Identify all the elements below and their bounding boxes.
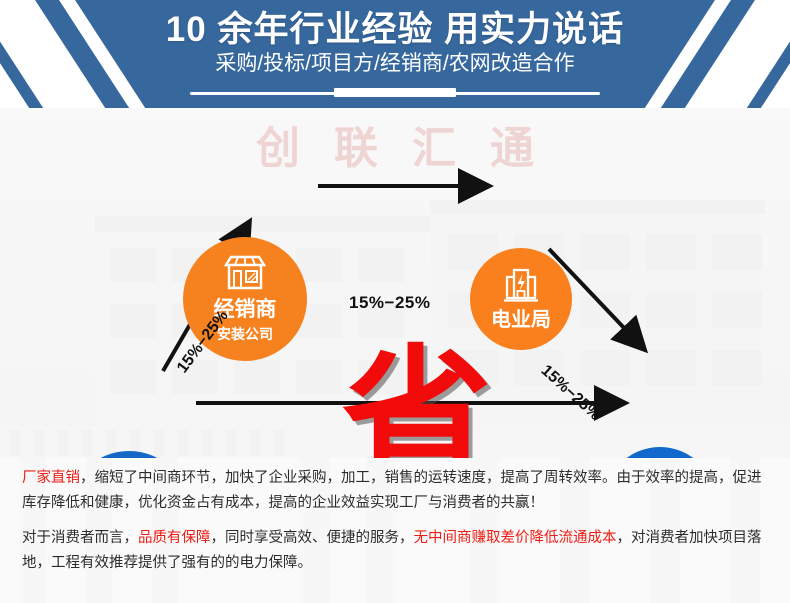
supply-chain-diagram: 创联汇通 省: [0, 108, 790, 458]
footer-paragraph-2: 对于消费者而言，品质有保障，同时享受高效、便捷的服务，无中间商赚取差价降低流通成…: [22, 526, 774, 576]
footer-p2-mid: ，同时享受高效、便捷的服务，: [211, 530, 414, 546]
page-title: 10 余年行业经验 用实力说话: [166, 9, 624, 50]
footer-p2-highlight-2: 无中间商赚取差价降低流通成本: [414, 530, 617, 546]
power-building-icon: [499, 267, 543, 308]
node-power-bureau[interactable]: 电业局: [470, 248, 572, 350]
center-character-sheng: 省: [332, 344, 502, 458]
footer-p1-rest: ，缩短了中间商环节，加快了企业采购，加工，销售的运转速度，提高了周转效率。由于效…: [22, 470, 762, 511]
node-power-bureau-label: 电业局: [491, 310, 551, 331]
footer-p1-highlight: 厂家直销: [22, 470, 80, 486]
edge-label-dealer-to-power: 15%−25%: [349, 293, 430, 313]
promo-infographic: 10 余年行业经验 用实力说话 采购/投标/项目方/经销商/农网改造合作: [0, 0, 790, 603]
header-banner: 10 余年行业经验 用实力说话 采购/投标/项目方/经销商/农网改造合作: [0, 0, 790, 108]
title-underline-center: [334, 88, 456, 97]
footer-p2-highlight-1: 品质有保障: [138, 530, 211, 546]
footer-p2-lead: 对于消费者而言，: [22, 530, 138, 546]
page-subtitle: 采购/投标/项目方/经销商/农网改造合作: [215, 51, 574, 77]
footer-description: 厂家直销，缩短了中间商环节，加快了企业采购，加工，销售的运转速度，提高了周转效率…: [0, 458, 790, 603]
storefront-icon: [221, 254, 269, 297]
footer-paragraph-1: 厂家直销，缩短了中间商环节，加快了企业采购，加工，销售的运转速度，提高了周转效率…: [22, 466, 774, 516]
